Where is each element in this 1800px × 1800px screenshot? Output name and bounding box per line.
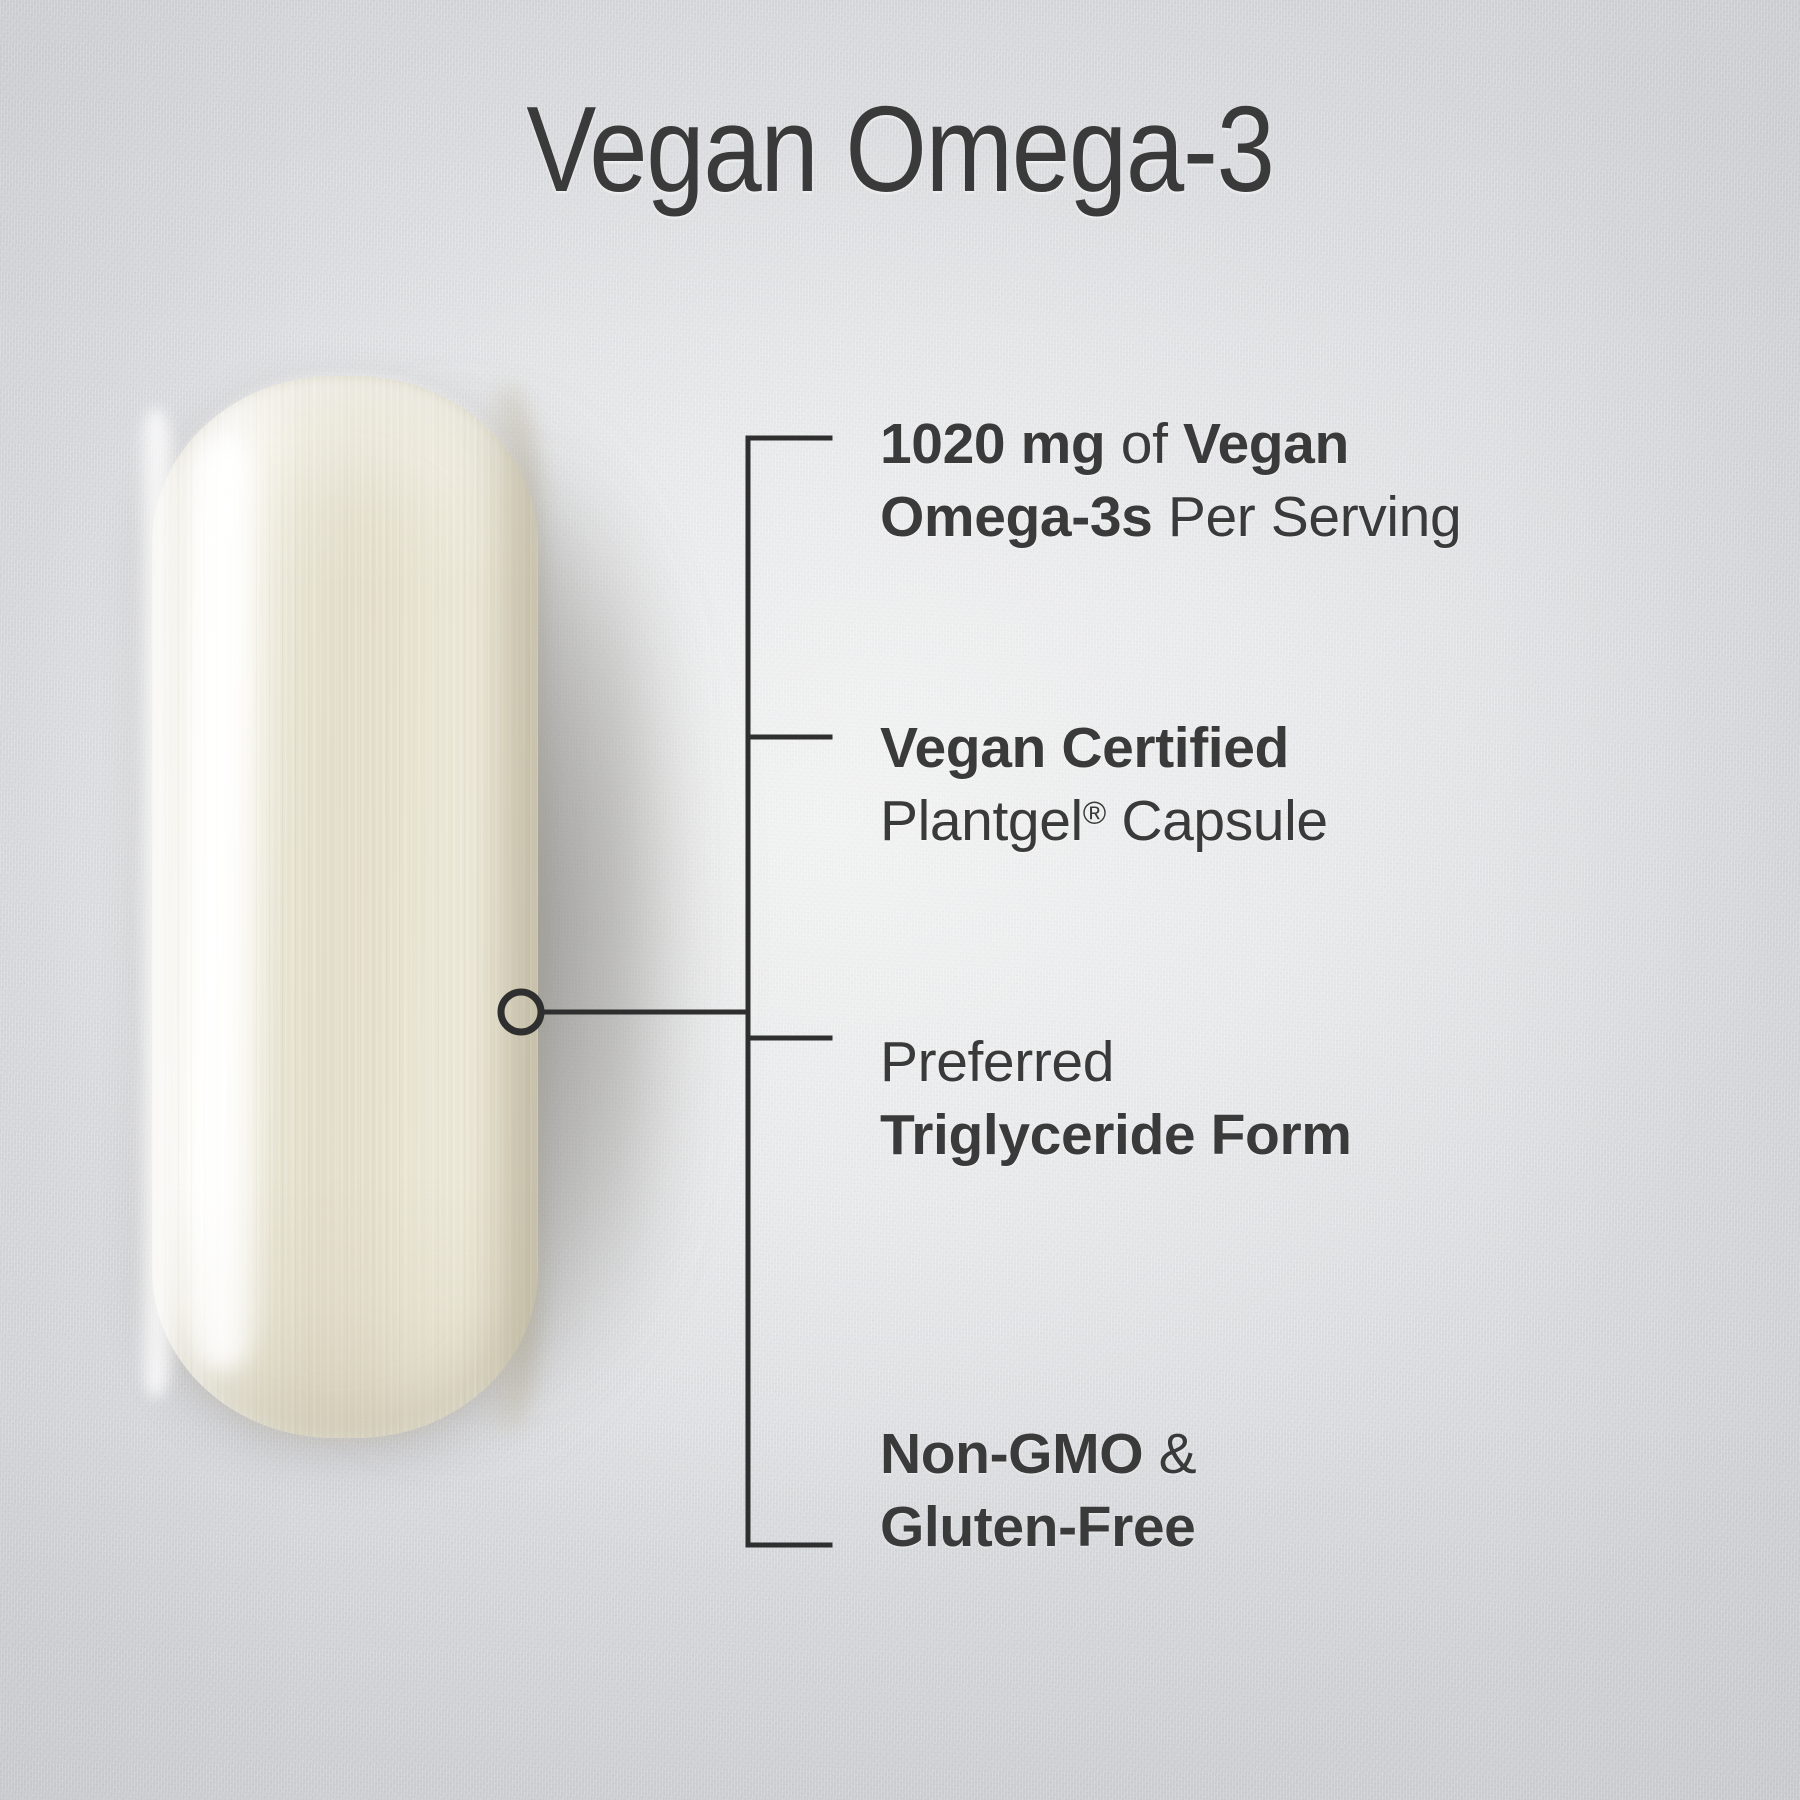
callout-line: Preferred [880,1026,1740,1099]
text-run: Plantgel [880,789,1083,853]
text-run: Gluten-Free [880,1495,1195,1559]
text-run: ® [1083,795,1106,831]
infographic-canvas: Vegan Omega-3 1020 [0,0,1800,1800]
text-run: Triglyceride Form [880,1103,1352,1167]
callout-text-column: 1020 mg of VeganOmega-3s Per Serving Veg… [880,0,1760,1800]
capsule-edge-specular-highlight [136,408,176,1398]
text-run: Per Serving [1152,485,1461,549]
callout-line: Triglyceride Form [880,1099,1740,1172]
callout-line: Non-GMO & [880,1418,1740,1491]
text-run: & [1143,1422,1196,1486]
text-run: Vegan [1183,412,1349,476]
callout-line: Plantgel® Capsule [880,785,1740,858]
callout-text-triglyceride-form: PreferredTriglyceride Form [880,1026,1740,1172]
capsule-specular-highlight [180,440,266,1370]
capsule-right-rim-shade [478,384,538,1430]
text-run: Omega-3s [880,485,1152,549]
text-run: Vegan Certified [880,716,1289,780]
text-run: Preferred [880,1030,1114,1094]
capsule-image [118,368,570,1460]
text-run: Non-GMO [880,1422,1143,1486]
text-run: 1020 mg [880,412,1105,476]
text-run: Capsule [1106,789,1328,853]
callout-line: Omega-3s Per Serving [880,481,1740,554]
callout-line: Gluten-Free [880,1491,1740,1564]
callout-text-non-gmo-gluten-free: Non-GMO &Gluten-Free [880,1418,1740,1564]
text-run: of [1105,412,1183,476]
callout-text-dose: 1020 mg of VeganOmega-3s Per Serving [880,408,1740,554]
callout-line: 1020 mg of Vegan [880,408,1740,481]
callout-line: Vegan Certified [880,712,1740,785]
callout-text-vegan-capsule: Vegan CertifiedPlantgel® Capsule [880,712,1740,858]
